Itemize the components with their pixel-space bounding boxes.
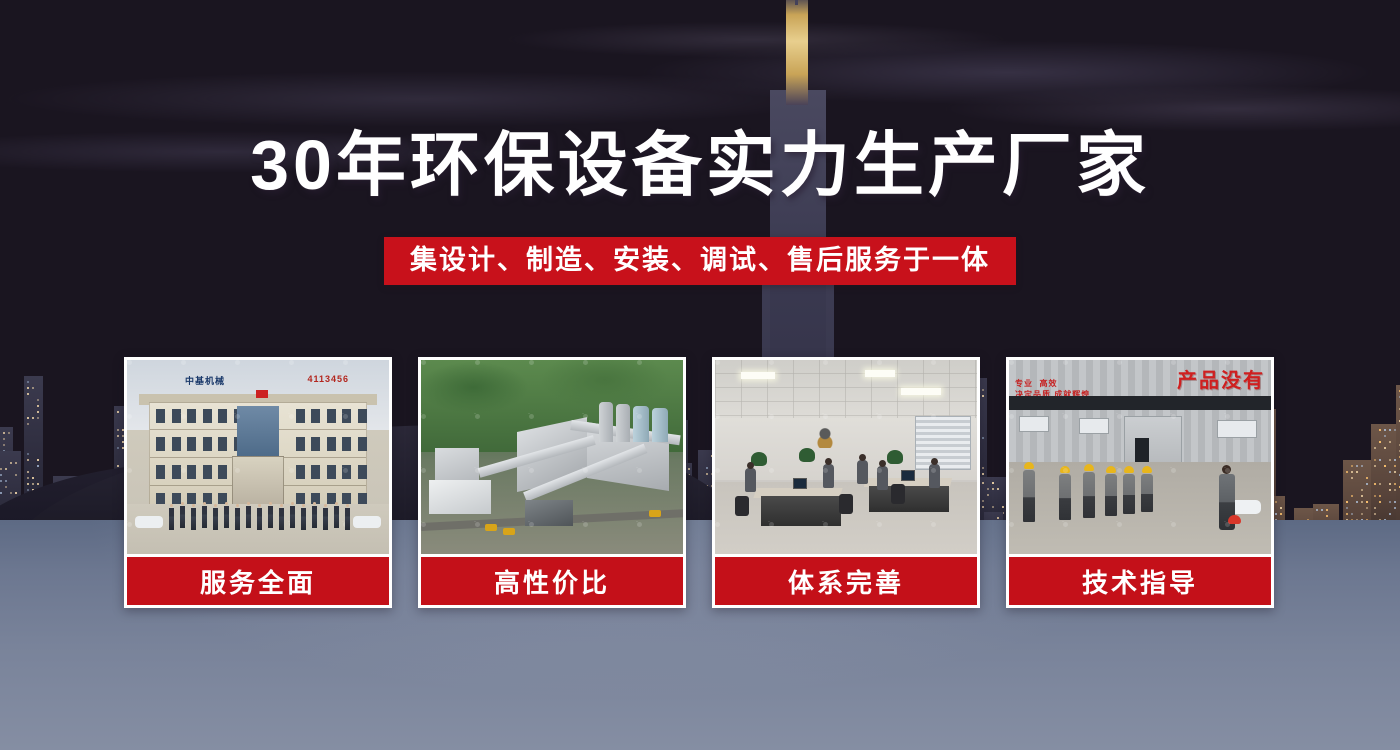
feature-card[interactable]: 体系完善 — [712, 357, 980, 608]
card-photo: 产品没有 专业 高效决定品质 成就辉煌 — [1009, 360, 1271, 554]
building-window — [187, 409, 196, 423]
staff-person — [191, 508, 196, 530]
card-caption: 高性价比 — [421, 557, 683, 605]
staff-person — [290, 506, 295, 528]
building-window — [218, 409, 227, 423]
building-window — [187, 437, 196, 451]
card-caption: 体系完善 — [715, 557, 977, 605]
card-caption: 技术指导 — [1009, 557, 1271, 605]
building-window — [172, 465, 181, 479]
subtitle-banner-wrap: 集设计、制造、安装、调试、售后服务于一体 — [0, 237, 1400, 285]
office-interior-photo — [715, 360, 977, 554]
building-window — [311, 465, 320, 479]
building-window — [187, 465, 196, 479]
staff-person — [257, 508, 262, 530]
factory-workers-photo: 产品没有 专业 高效决定品质 成就辉煌 — [1009, 360, 1271, 554]
subtitle-banner: 集设计、制造、安装、调试、售后服务于一体 — [384, 237, 1016, 285]
building-window — [358, 409, 367, 423]
building-window — [156, 465, 165, 479]
staff-person — [323, 508, 328, 530]
building-window — [327, 409, 336, 423]
building-phone: 4113456 — [307, 374, 349, 384]
hero-banner: 30年环保设备实力生产厂家 集设计、制造、安装、调试、售后服务于一体 — [0, 0, 1400, 750]
card-photo: 中基机械 4113456 — [127, 360, 389, 554]
card-photo — [421, 360, 683, 554]
staff-person — [246, 506, 251, 528]
building-window — [311, 437, 320, 451]
building-window — [218, 437, 227, 451]
building-window — [296, 465, 305, 479]
feature-card-list: 中基机械 4113456 服务全面 — [124, 357, 1277, 608]
staff-person — [301, 508, 306, 530]
staff-person — [202, 506, 207, 528]
staff-person — [279, 508, 284, 530]
building-window — [358, 465, 367, 479]
building-window — [358, 437, 367, 451]
feature-card[interactable]: 中基机械 4113456 服务全面 — [124, 357, 392, 608]
tower-crown-lights — [786, 0, 808, 105]
staff-person — [213, 508, 218, 530]
office-building-photo: 中基机械 4113456 — [127, 360, 389, 554]
watermark-dot — [421, 468, 426, 473]
staff-person — [169, 508, 174, 530]
building-window — [203, 465, 212, 479]
staff-person — [235, 508, 240, 530]
building-window — [203, 409, 212, 423]
staff-person — [224, 506, 229, 528]
watermark-dot — [583, 522, 588, 527]
industrial-plant-photo — [421, 360, 683, 554]
staff-person — [268, 506, 273, 528]
building-window — [218, 465, 227, 479]
building-window — [296, 437, 305, 451]
building-window — [172, 437, 181, 451]
watermark-dot — [637, 522, 642, 527]
page-title: 30年环保设备实力生产厂家 — [0, 130, 1400, 200]
staff-person — [345, 508, 350, 530]
building-window — [342, 465, 351, 479]
card-caption: 服务全面 — [127, 557, 389, 605]
card-photo — [715, 360, 977, 554]
building-window — [327, 437, 336, 451]
staff-person — [312, 506, 317, 528]
building-signage: 中基机械 — [185, 374, 225, 387]
building-window — [296, 409, 305, 423]
building-window — [203, 437, 212, 451]
building-window — [156, 437, 165, 451]
tower-antenna — [795, 0, 798, 5]
building-window — [156, 409, 165, 423]
feature-card[interactable]: 高性价比 — [418, 357, 686, 608]
building-window — [327, 465, 336, 479]
building-window — [342, 437, 351, 451]
staff-person — [334, 506, 339, 528]
building-window — [172, 409, 181, 423]
building-window — [311, 409, 320, 423]
factory-signage: 产品没有 — [1177, 364, 1265, 393]
watermark-dot — [127, 468, 132, 473]
building-window — [342, 409, 351, 423]
feature-card[interactable]: 产品没有 专业 高效决定品质 成就辉煌 — [1006, 357, 1274, 608]
staff-person — [180, 506, 185, 528]
